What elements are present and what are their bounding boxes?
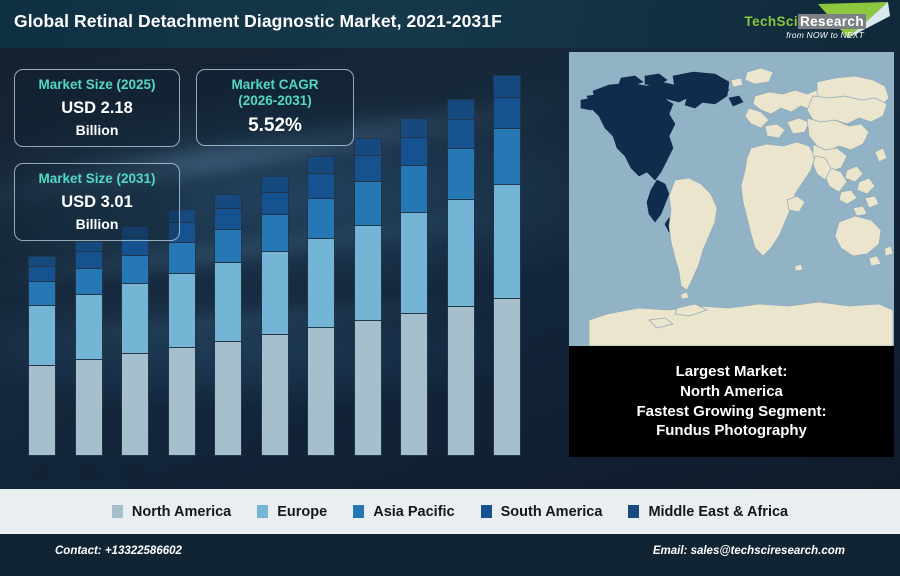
legend-label: North America [132,504,231,520]
bar-segment [214,341,242,456]
page-title: Global Retinal Detachment Diagnostic Mar… [14,11,502,32]
bar-segment [121,283,149,353]
logo-wordmark: TechSciResearch [744,14,866,29]
footer-bar: Contact: +13322586602 Email: sales@techs… [0,534,900,576]
bar-segment [168,242,196,274]
bar-segment [121,255,149,284]
bar-column [307,157,335,456]
bar-segment [261,176,289,192]
stat-card-unit: Billion [25,122,169,139]
bar-segment [214,262,242,342]
bar-segment [307,327,335,456]
x-axis-label: 2027F [295,467,347,479]
bar-segment [447,306,475,456]
bar-segment [28,305,56,366]
bar-column [493,76,521,456]
bar-segment [400,313,428,456]
bar-column [447,100,475,456]
x-axis-label: 2031F [481,467,533,479]
bar-segment [168,347,196,456]
bar-segment [28,365,56,456]
x-axis-label: 2021 [16,467,68,479]
bar-segment [354,225,382,321]
bar-column [121,227,149,457]
legend-swatch [257,505,268,518]
bar-segment [493,184,521,299]
bar-segment [400,212,428,314]
bar-segment [75,268,103,295]
bar-segment [354,181,382,226]
stat-card-market-size-2031: Market Size (2031) USD 3.01 Billion [14,163,180,241]
bar-segment [400,118,428,138]
world-map-svg [569,52,894,346]
bar-segment [354,155,382,182]
legend-swatch [112,505,123,518]
chart-legend: North AmericaEuropeAsia PacificSouth Ame… [0,489,900,534]
bar-segment [354,138,382,157]
bar-column [214,195,242,456]
bar-segment [214,194,242,209]
legend-label: South America [501,504,603,520]
legend-label: Asia Pacific [373,504,454,520]
chart-x-axis-labels: 202120222023202420252026E2027F2028F2029F… [14,459,552,479]
bar-segment [447,148,475,200]
bar-segment [400,165,428,213]
bar-segment [307,156,335,174]
stat-card-label-line2: (2026-2031) [207,93,343,109]
info-box: Largest Market: North America Fastest Gr… [569,346,894,457]
infographic-page: Global Retinal Detachment Diagnostic Mar… [0,0,900,576]
x-axis-label: 2028F [342,467,394,479]
stat-card-label: Market Size (2025) [25,77,169,93]
bar-column [168,210,196,456]
bar-segment [261,192,289,215]
x-axis-label: 2022 [63,467,115,479]
info-box-line-3: Fastest Growing Segment: [636,402,826,422]
legend-item: Asia Pacific [353,504,454,520]
bar-segment [168,273,196,348]
bar-segment [261,251,289,335]
x-axis-label: 2024 [156,467,208,479]
info-box-line-1: Largest Market: [676,362,788,382]
bar-segment [75,359,103,456]
stat-card-label-line1: Market CAGR [207,77,343,93]
main-panel: 202120222023202420252026E2027F2028F2029F… [0,48,900,489]
bar-segment [75,294,103,360]
header-bar: Global Retinal Detachment Diagnostic Mar… [0,0,900,48]
stat-card-label: Market Size (2031) [25,171,169,187]
bar-segment [493,97,521,130]
bar-segment [493,128,521,184]
legend-label: Europe [277,504,327,520]
logo-tagline: from NOW to NEXT [786,30,864,40]
bar-column [261,177,289,456]
legend-item: North America [112,504,231,520]
bar-segment [493,75,521,97]
bar-column [75,242,103,456]
bar-segment [493,298,521,456]
bar-segment [447,119,475,149]
legend-swatch [628,505,639,518]
bar-segment [447,199,475,307]
x-axis-label: 2023 [109,467,161,479]
stat-card-market-size-2025: Market Size (2025) USD 2.18 Billion [14,69,180,147]
stat-card-value: USD 3.01 [25,192,169,213]
logo-text-research: Research [798,14,866,29]
legend-swatch [481,505,492,518]
legend-item: Europe [257,504,327,520]
logo-text-techsci: TechSci [744,14,798,29]
bar-segment [261,334,289,456]
bar-segment [214,229,242,263]
bar-column [28,257,56,456]
x-axis-label: 2026E [249,467,301,479]
footer-contact: Contact: +13322586602 [55,545,182,557]
x-axis-label: 2029F [388,467,440,479]
stat-card-unit: Billion [25,216,169,233]
x-axis-label: 2025 [202,467,254,479]
x-axis-label: 2030F [435,467,487,479]
bar-segment [307,198,335,239]
bar-segment [214,208,242,230]
bar-segment [28,281,56,306]
bar-segment [354,320,382,456]
bar-segment [447,99,475,120]
bar-segment [75,251,103,269]
legend-item: South America [481,504,603,520]
bar-segment [400,137,428,166]
footer-email: Email: sales@techsciresearch.com [653,545,845,557]
bar-segment [261,214,289,252]
bar-segment [28,266,56,282]
legend-swatch [353,505,364,518]
info-box-line-2: North America [680,382,783,402]
stat-card-value: USD 2.18 [25,98,169,119]
bar-segment [121,353,149,456]
bar-segment [307,238,335,328]
stat-card-market-cagr: Market CAGR (2026-2031) 5.52% [196,69,354,146]
bar-column [354,139,382,456]
info-box-line-4: Fundus Photography [656,421,807,441]
world-map [569,52,894,346]
bar-segment [307,173,335,199]
legend-item: Middle East & Africa [628,504,788,520]
bar-column [400,119,428,456]
techsci-logo: TechSciResearch from NOW to NEXT [714,0,894,48]
legend-label: Middle East & Africa [648,504,788,520]
stat-card-value: 5.52% [207,114,343,138]
